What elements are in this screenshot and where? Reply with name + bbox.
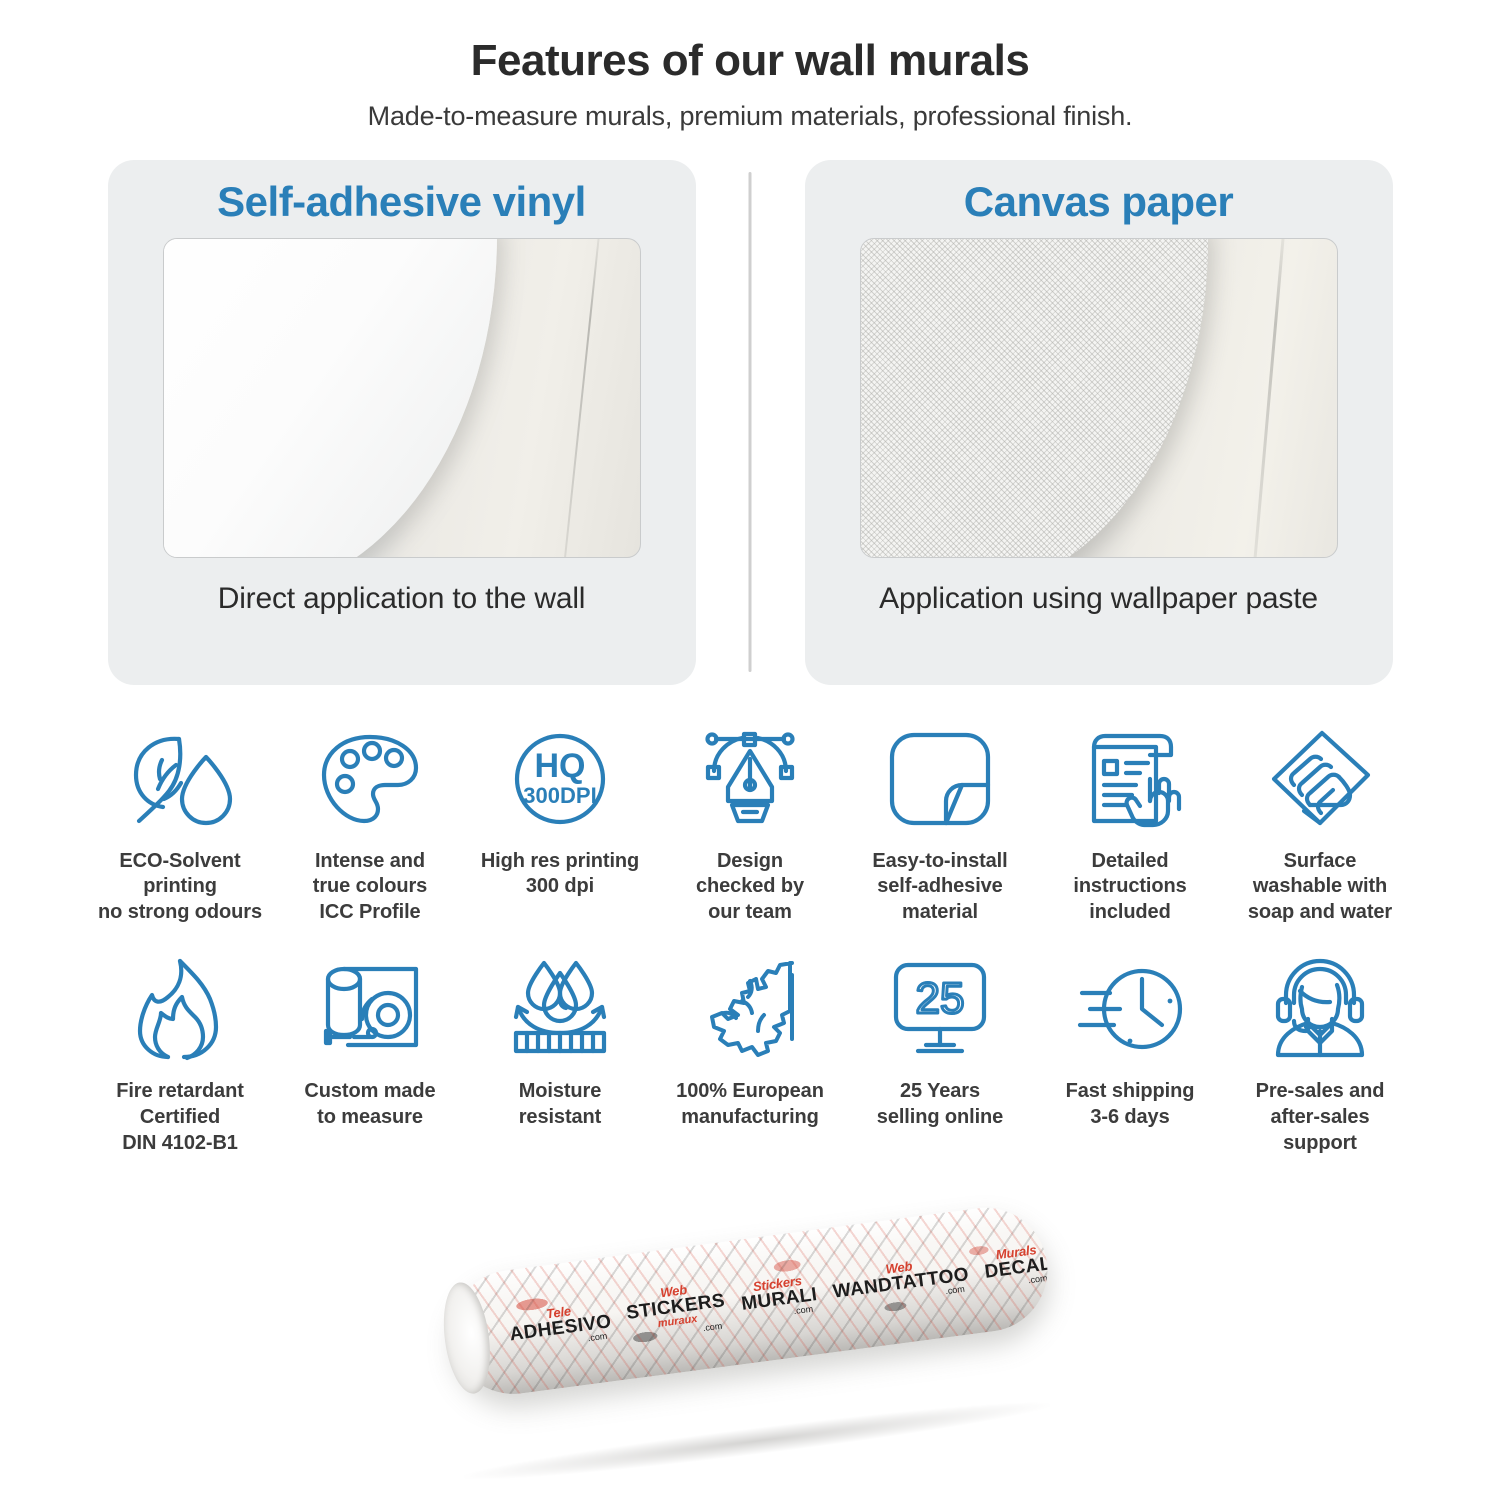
panel-caption: Application using wallpaper paste: [879, 580, 1318, 618]
features-infographic-page: Features of our wall murals Made-to-meas…: [0, 0, 1500, 1500]
feature-grid: ECO-Solvent printing no strong odours In…: [85, 719, 1415, 1157]
panel-canvas-paper: Canvas paper Application using wallpaper…: [805, 160, 1393, 685]
shipping-tube-section: Tele ADHESIVO .com Web STICKERS muraux .…: [0, 1252, 1500, 1482]
brand-domain: .com: [587, 1331, 608, 1342]
tube-body-artwork: Tele ADHESIVO .com Web STICKERS muraux .…: [444, 1200, 1055, 1401]
feature-label: Pre-sales and after-sales support: [1256, 1079, 1385, 1156]
roll-tape-measure-icon: [314, 949, 426, 1069]
feature-eco-solvent: ECO-Solvent printing no strong odours: [85, 719, 275, 926]
years-number: 25: [916, 974, 965, 1023]
feature-fast-shipping: Fast shipping 3-6 days: [1035, 949, 1225, 1156]
page-subtitle: Made-to-measure murals, premium material…: [0, 101, 1500, 132]
brand-domain: .com: [702, 1322, 723, 1333]
vinyl-material-photo: [163, 238, 641, 558]
feature-true-colours: Intense and true colours ICC Profile: [275, 719, 465, 926]
feature-easy-install: Easy-to-install self-adhesive material: [845, 719, 1035, 926]
feature-label: 100% European manufacturing: [676, 1079, 824, 1130]
material-comparison: Self-adhesive vinyl Direct application t…: [108, 160, 1393, 685]
feature-label: High res printing 300 dpi: [481, 849, 639, 900]
feature-label: Fast shipping 3-6 days: [1066, 1079, 1195, 1130]
paint-palette-icon: [314, 719, 426, 839]
feature-label: Surface washable with soap and water: [1248, 849, 1392, 926]
feature-label: Fire retardant Certified DIN 4102-B1: [116, 1079, 244, 1156]
feature-label: 25 Years selling online: [877, 1079, 1003, 1130]
tube-shadow: [463, 1392, 1052, 1490]
brand-logo: Web WANDTATTOO .com: [830, 1252, 971, 1311]
brand-domain: .com: [945, 1284, 966, 1295]
brand-logo: Stickers MURALI .com: [739, 1272, 820, 1323]
flame-icon: [124, 949, 236, 1069]
brand-logo: Tele ADHESIVO .com: [507, 1299, 614, 1353]
feature-custom-made: Custom made to measure: [275, 949, 465, 1156]
hq-badge-top: HQ: [535, 747, 586, 785]
hq-badge-bottom: 300DPI: [523, 783, 596, 808]
fast-clock-icon: [1074, 949, 1186, 1069]
brand-logo: Web STICKERS muraux .com: [624, 1278, 729, 1343]
headset-agent-icon: [1264, 949, 1376, 1069]
brand-logo: Murals DECAL .com: [982, 1241, 1054, 1290]
leaf-droplet-icon: [124, 719, 236, 839]
pen-nib-bezier-icon: [694, 719, 806, 839]
feature-label: Moisture resistant: [519, 1079, 602, 1130]
water-repellent-icon: [504, 949, 616, 1069]
panel-title: Self-adhesive vinyl: [217, 176, 586, 229]
feature-label: Intense and true colours ICC Profile: [313, 849, 427, 926]
feature-design-check: Design checked by our team: [655, 719, 845, 926]
panel-caption: Direct application to the wall: [218, 580, 586, 618]
peel-corner-sheet-icon: [884, 719, 996, 839]
washing-hand-cloth-icon: [1264, 719, 1376, 839]
page-header: Features of our wall murals Made-to-meas…: [0, 0, 1500, 132]
feature-support: Pre-sales and after-sales support: [1225, 949, 1415, 1156]
feature-instructions: Detailed instructions included: [1035, 719, 1225, 926]
panel-self-adhesive-vinyl: Self-adhesive vinyl Direct application t…: [108, 160, 696, 685]
feature-25-years: 25 25 Years selling online: [845, 949, 1035, 1156]
feature-european-manufacturing: 100% European manufacturing: [655, 949, 845, 1156]
brand-domain: .com: [1027, 1273, 1048, 1284]
feature-label: Design checked by our team: [696, 849, 804, 926]
instructions-hand-icon: [1074, 719, 1186, 839]
feature-label: Custom made to measure: [304, 1079, 435, 1130]
monitor-25-icon: 25: [884, 949, 996, 1069]
feature-high-res: HQ 300DPI High res printing 300 dpi: [465, 719, 655, 926]
feature-label: Easy-to-install self-adhesive material: [872, 849, 1007, 926]
page-title: Features of our wall murals: [0, 36, 1500, 87]
panel-divider: [749, 172, 752, 672]
brand-domain: .com: [793, 1304, 814, 1315]
feature-washable: Surface washable with soap and water: [1225, 719, 1415, 926]
feature-label: ECO-Solvent printing no strong odours: [98, 849, 262, 926]
europe-map-icon: [694, 949, 806, 1069]
shipping-tube: Tele ADHESIVO .com Web STICKERS muraux .…: [444, 1200, 1055, 1401]
feature-fire-retardant: Fire retardant Certified DIN 4102-B1: [85, 949, 275, 1156]
canvas-material-photo: [860, 238, 1338, 558]
feature-moisture-resistant: Moisture resistant: [465, 949, 655, 1156]
panel-title: Canvas paper: [964, 176, 1233, 229]
feature-label: Detailed instructions included: [1073, 849, 1186, 926]
brand-sub: muraux: [657, 1314, 698, 1330]
tube-brand-logos: Tele ADHESIVO .com Web STICKERS muraux .…: [444, 1200, 1055, 1401]
hq-300dpi-badge-icon: HQ 300DPI: [504, 719, 616, 839]
